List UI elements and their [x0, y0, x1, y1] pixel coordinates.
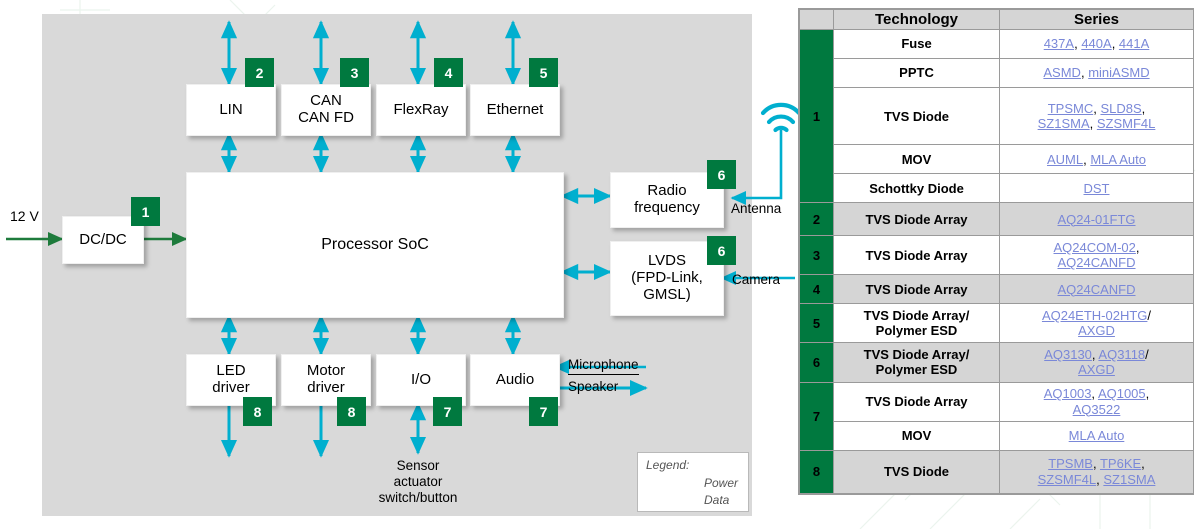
block-audio-label: Audio: [496, 372, 534, 389]
series-link[interactable]: 440A: [1081, 36, 1111, 51]
table-row: MOVMLA Auto: [800, 421, 1194, 450]
cell-technology: MOV: [834, 145, 1000, 174]
legend-data-label: Data: [704, 493, 729, 507]
series-separator: ,: [1093, 456, 1100, 471]
badge-lvds[interactable]: 6: [707, 236, 736, 265]
block-can-label: CAN CAN FD: [298, 93, 354, 127]
label-12v: 12 V: [10, 208, 39, 225]
cell-technology: TVS Diode Array: [834, 203, 1000, 236]
table-row: MOVAUML, MLA Auto: [800, 145, 1194, 174]
series-link[interactable]: SZ1SMA: [1038, 116, 1090, 131]
cell-technology: TVS Diode Array: [834, 275, 1000, 304]
table-row: TVS DiodeTPSMC, SLD8S,SZ1SMA, SZSMF4L: [800, 87, 1194, 145]
badge-io[interactable]: 7: [433, 397, 462, 426]
cell-technology: MOV: [834, 421, 1000, 450]
table-row: PPTCASMD, miniASMD: [800, 58, 1194, 87]
series-separator: ,: [1090, 116, 1097, 131]
table-body: 1Fuse437A, 440A, 441APPTCASMD, miniASMDT…: [800, 30, 1194, 494]
series-separator: ,: [1141, 456, 1145, 471]
cell-technology: TVS Diode: [834, 87, 1000, 145]
row-number-2: 2: [800, 203, 834, 236]
series-link[interactable]: SZSMF4L: [1097, 116, 1156, 131]
row-number-4: 4: [800, 275, 834, 304]
badge-rf[interactable]: 6: [707, 160, 736, 189]
series-link[interactable]: DST: [1084, 181, 1110, 196]
block-ethernet[interactable]: Ethernet: [470, 84, 560, 136]
series-separator: /: [1147, 308, 1151, 323]
table-row: 2TVS Diode ArrayAQ24-01FTG: [800, 203, 1194, 236]
cell-series: DST: [1000, 174, 1194, 203]
block-processor-soc[interactable]: Processor SoC: [186, 172, 564, 318]
table-row: 4TVS Diode ArrayAQ24CANFD: [800, 275, 1194, 304]
cell-technology: TVS Diode Array: [834, 382, 1000, 421]
badge-dcdc[interactable]: 1: [131, 197, 160, 226]
series-link[interactable]: AQ3130: [1044, 347, 1092, 362]
series-link[interactable]: AQ1005: [1098, 386, 1146, 401]
table-row: Schottky DiodeDST: [800, 174, 1194, 203]
badge-can[interactable]: 3: [340, 58, 369, 87]
series-link[interactable]: 441A: [1119, 36, 1149, 51]
badge-motor[interactable]: 8: [337, 397, 366, 426]
cell-series: AQ24CANFD: [1000, 275, 1194, 304]
series-link[interactable]: MLA Auto: [1069, 428, 1125, 443]
cell-technology: Schottky Diode: [834, 174, 1000, 203]
series-link[interactable]: TPSMC: [1048, 101, 1094, 116]
cell-technology: PPTC: [834, 58, 1000, 87]
block-led-label: LED driver: [212, 363, 250, 397]
row-number-1: 1: [800, 30, 834, 203]
cell-series: TPSMB, TP6KE,SZSMF4L, SZ1SMA: [1000, 450, 1194, 493]
series-link[interactable]: miniASMD: [1088, 65, 1149, 80]
col-header-technology: Technology: [834, 10, 1000, 30]
series-link[interactable]: TPSMB: [1048, 456, 1093, 471]
series-link[interactable]: AUML: [1047, 152, 1083, 167]
badge-ethernet[interactable]: 5: [529, 58, 558, 87]
series-link[interactable]: AQ24ETH-02HTG: [1042, 308, 1147, 323]
table-row: 3TVS Diode ArrayAQ24COM-02,AQ24CANFD: [800, 236, 1194, 275]
table-row: 8TVS DiodeTPSMB, TP6KE,SZSMF4L, SZ1SMA: [800, 450, 1194, 493]
table-header-row: Technology Series: [800, 10, 1194, 30]
cell-technology: TVS Diode Array/ Polymer ESD: [834, 304, 1000, 343]
series-link[interactable]: ASMD: [1043, 65, 1081, 80]
cell-series: AQ24COM-02,AQ24CANFD: [1000, 236, 1194, 275]
cell-series: AQ1003, AQ1005,AQ3522: [1000, 382, 1194, 421]
series-separator: ,: [1146, 386, 1150, 401]
label-antenna: Antenna: [731, 201, 781, 217]
screenshot-root: DC/DC 1 LIN 2 CAN CAN FD 3 FlexRay 4 Eth…: [0, 0, 1200, 529]
block-ethernet-label: Ethernet: [487, 102, 544, 119]
block-dcdc-label: DC/DC: [79, 232, 127, 249]
block-can[interactable]: CAN CAN FD: [281, 84, 371, 136]
cell-series: TPSMC, SLD8S,SZ1SMA, SZSMF4L: [1000, 87, 1194, 145]
block-motor-label: Motor driver: [307, 363, 345, 397]
label-microphone: Microphone: [568, 357, 639, 375]
badge-flexray[interactable]: 4: [434, 58, 463, 87]
series-link[interactable]: TP6KE: [1100, 456, 1141, 471]
series-link[interactable]: MLA Auto: [1090, 152, 1146, 167]
series-separator: ,: [1112, 36, 1119, 51]
table-row: 6TVS Diode Array/ Polymer ESDAQ3130, AQ3…: [800, 343, 1194, 382]
block-io-label: I/O: [411, 372, 431, 389]
cell-technology: TVS Diode: [834, 450, 1000, 493]
cell-technology: TVS Diode Array: [834, 236, 1000, 275]
row-number-3: 3: [800, 236, 834, 275]
cell-series: AQ3130, AQ3118/AXGD: [1000, 343, 1194, 382]
block-flexray-label: FlexRay: [393, 102, 448, 119]
series-link[interactable]: AQ24COM-02: [1054, 240, 1136, 255]
series-link[interactable]: SZSMF4L: [1038, 472, 1097, 487]
cell-series: ASMD, miniASMD: [1000, 58, 1194, 87]
series-link[interactable]: SZ1SMA: [1103, 472, 1155, 487]
legend-box: Legend: Power Data: [637, 452, 749, 512]
label-camera: Camera: [732, 272, 780, 288]
row-number-7: 7: [800, 382, 834, 450]
series-link[interactable]: AQ1003: [1044, 386, 1092, 401]
col-header-num: [800, 10, 834, 30]
block-flexray[interactable]: FlexRay: [376, 84, 466, 136]
antenna-icon: [763, 105, 799, 130]
table-row: 7TVS Diode ArrayAQ1003, AQ1005,AQ3522: [800, 382, 1194, 421]
block-soc-label: Processor SoC: [321, 236, 429, 254]
series-link[interactable]: AQ24CANFD: [1057, 255, 1135, 270]
series-link[interactable]: AQ3522: [1073, 402, 1121, 417]
cell-series: AQ24-01FTG: [1000, 203, 1194, 236]
row-number-6: 6: [800, 343, 834, 382]
cell-series: AUML, MLA Auto: [1000, 145, 1194, 174]
label-speaker: Speaker: [568, 379, 618, 395]
series-separator: ,: [1136, 240, 1140, 255]
technology-series-table: Technology Series 1Fuse437A, 440A, 441AP…: [798, 8, 1194, 495]
table-row: 5TVS Diode Array/ Polymer ESDAQ24ETH-02H…: [800, 304, 1194, 343]
legend-title: Legend:: [646, 458, 689, 472]
series-link[interactable]: 437A: [1044, 36, 1074, 51]
block-lvds-label: LVDS (FPD-Link, GMSL): [631, 253, 703, 303]
table-row: 1Fuse437A, 440A, 441A: [800, 30, 1194, 59]
cell-series: MLA Auto: [1000, 421, 1194, 450]
series-link[interactable]: SLD8S: [1100, 101, 1141, 116]
row-number-5: 5: [800, 304, 834, 343]
badge-audio[interactable]: 7: [529, 397, 558, 426]
cell-series: AQ24ETH-02HTG/AXGD: [1000, 304, 1194, 343]
badge-led[interactable]: 8: [243, 397, 272, 426]
cell-technology: Fuse: [834, 30, 1000, 59]
cell-technology: TVS Diode Array/ Polymer ESD: [834, 343, 1000, 382]
series-link[interactable]: AXGD: [1078, 323, 1115, 338]
series-link[interactable]: AQ24CANFD: [1057, 282, 1135, 297]
series-link[interactable]: AQ24-01FTG: [1057, 212, 1135, 227]
legend-power-label: Power: [704, 476, 738, 490]
series-separator: ,: [1142, 101, 1146, 116]
series-link[interactable]: AXGD: [1078, 362, 1115, 377]
col-header-series: Series: [1000, 10, 1194, 30]
block-lin[interactable]: LIN: [186, 84, 276, 136]
badge-lin[interactable]: 2: [245, 58, 274, 87]
row-number-8: 8: [800, 450, 834, 493]
block-lin-label: LIN: [219, 102, 242, 119]
label-sensor-actuator: Sensor actuator switch/button: [368, 458, 468, 506]
block-rf-label: Radio frequency: [634, 183, 700, 217]
series-link[interactable]: AQ3118: [1098, 347, 1145, 362]
series-separator: /: [1145, 347, 1149, 362]
cell-series: 437A, 440A, 441A: [1000, 30, 1194, 59]
